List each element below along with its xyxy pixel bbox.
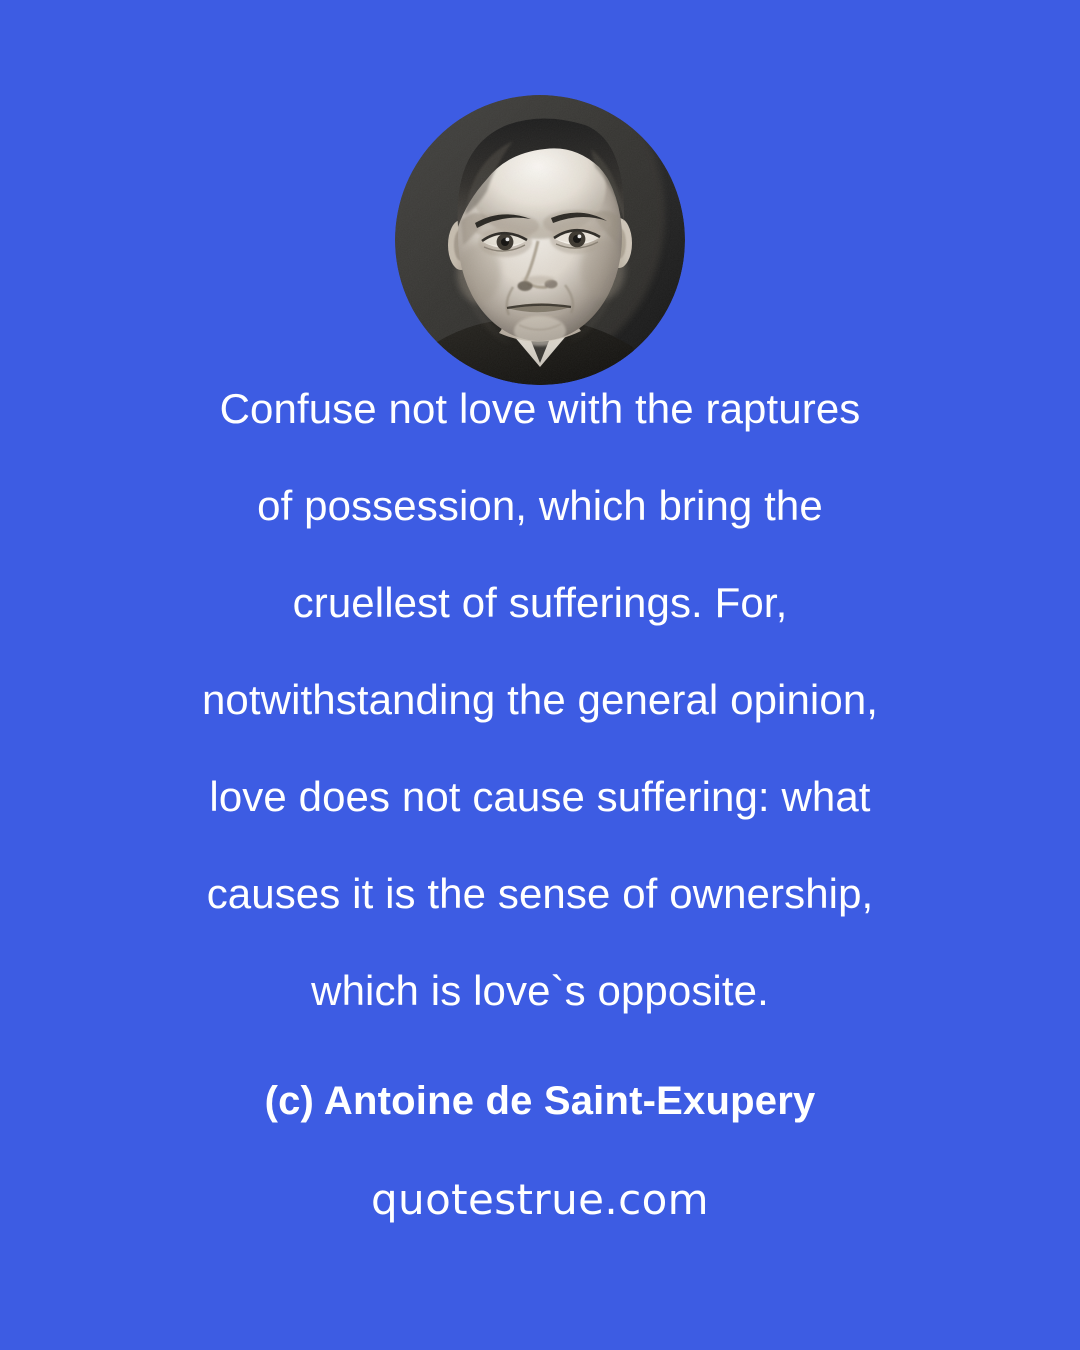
quote-line: which is love`s opposite. (0, 942, 1080, 1039)
quote-attribution: (c) Antoine de Saint-Exupery (0, 1076, 1080, 1126)
quote-card: Confuse not love with the raptures of po… (0, 0, 1080, 1350)
quote-line: notwithstanding the general opinion, (0, 651, 1080, 748)
author-portrait (395, 95, 685, 385)
author-portrait-photo (395, 95, 685, 385)
quote-line: of possession, which bring the (0, 457, 1080, 554)
quote-body: Confuse not love with the raptures of po… (0, 360, 1080, 1039)
quote-line: love does not cause suffering: what (0, 748, 1080, 845)
quote-line: Confuse not love with the raptures (0, 360, 1080, 457)
quote-line: cruellest of sufferings. For, (0, 554, 1080, 651)
site-watermark: quotestrue.com (0, 1172, 1080, 1228)
quote-line: causes it is the sense of ownership, (0, 845, 1080, 942)
